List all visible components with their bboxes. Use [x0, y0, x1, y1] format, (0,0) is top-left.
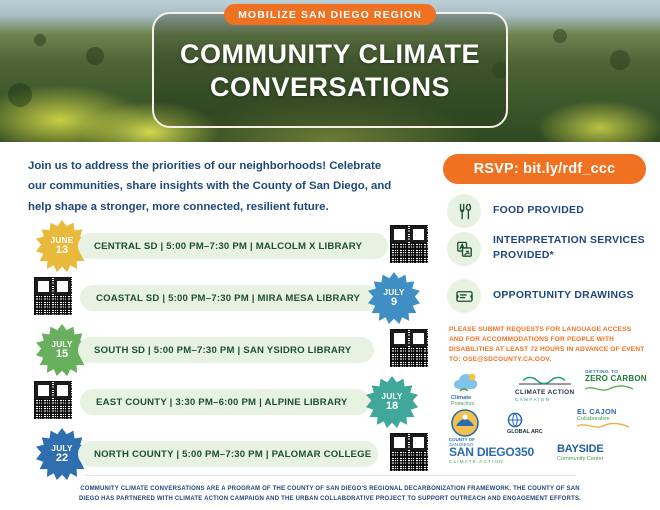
qr-code-icon[interactable]: [390, 225, 428, 263]
list-item[interactable]: JUNE 13 CENTRAL SD | 5:00 PM–7:30 PM | M…: [18, 224, 438, 276]
logo-climate-protection: Climate Protection: [451, 370, 509, 408]
hero-banner: MOBILIZE SAN DIEGO REGION COMMUNITY CLIM…: [0, 0, 660, 142]
logo-climate-action-title: CLIMATE ACTION: [515, 390, 575, 397]
event-details-pill: NORTH COUNTY | 5:00 PM–7:30 PM | PALOMAR…: [78, 441, 378, 467]
utensils-icon: [447, 194, 481, 228]
logo-san-diego-350: SAN DIEGO350 CLIMATE ACTION: [449, 446, 534, 464]
event-date-day: 15: [56, 349, 68, 361]
qr-code-icon[interactable]: [34, 381, 72, 419]
logo-global-arc: GLOBAL ARC: [507, 412, 543, 436]
event-date-day: 22: [56, 453, 68, 465]
rsvp-button[interactable]: RSVP: bit.ly/rdf_ccc: [443, 154, 646, 184]
logo-global-arc-title: GLOBAL ARC: [507, 430, 543, 436]
accessibility-note: PLEASE SUBMIT REQUESTS FOR LANGUAGE ACCE…: [449, 325, 645, 365]
hero-title-card: MOBILIZE SAN DIEGO REGION COMMUNITY CLIM…: [152, 12, 508, 128]
content-area: Join us to address the priorities of our…: [0, 142, 660, 510]
event-date-badge: JULY 18: [366, 376, 418, 428]
intro-paragraph: Join us to address the priorities of our…: [28, 156, 396, 217]
event-details-pill: EAST COUNTY | 3:30 PM–6:00 PM | ALPINE L…: [80, 389, 370, 415]
partner-logos: Climate Protection CLIMATE ACTION CAMPAI…: [449, 370, 647, 478]
feature-label: INTERPRETATION SERVICES PROVIDED*: [493, 234, 645, 264]
event-date-day: 9: [391, 297, 397, 309]
feature-label: FOOD PROVIDED: [493, 204, 584, 219]
logo-sd350-title: SAN DIEGO350: [449, 446, 534, 459]
interpretation-headset-icon: [447, 232, 481, 266]
logo-zero-carbon-subtitle: ZERO CARBON: [585, 375, 647, 384]
hero-eyebrow-badge: MOBILIZE SAN DIEGO REGION: [224, 4, 436, 25]
logo-climate-action-mark: [515, 372, 575, 390]
list-item[interactable]: JULY 15 SOUTH SD | 5:00 PM–7:30 PM | SAN…: [18, 328, 438, 380]
logo-bayside-subtitle: Community Center: [557, 456, 604, 462]
event-date-day: 18: [386, 401, 398, 413]
footer-note: COMMUNITY CLIMATE CONVERSATIONS ARE A PR…: [0, 485, 660, 504]
logo-county-of-san-diego: COUNTY OF SAN DIEGO: [449, 408, 501, 447]
feature-food-provided: FOOD PROVIDED: [447, 194, 584, 228]
feature-label: OPPORTUNITY DRAWINGS: [493, 289, 634, 304]
logo-bayside-community-center: BAYSIDE Community Center: [557, 444, 604, 462]
event-details-pill: COASTAL SD | 5:00 PM–7:30 PM | MIRA MESA…: [80, 285, 380, 311]
feature-opportunity-drawings: OPPORTUNITY DRAWINGS: [447, 279, 634, 313]
logo-climate-action-subtitle: CAMPAIGN: [515, 397, 575, 402]
logo-climate-protection-subtitle: Protection: [451, 402, 509, 408]
page-title: COMMUNITY CLIMATE CONVERSATIONS: [154, 38, 506, 104]
ticket-icon: [447, 279, 481, 313]
event-date-badge: JULY 9: [368, 272, 420, 324]
event-date-day: 13: [56, 245, 68, 257]
logo-zero-carbon-mark: [585, 384, 639, 392]
event-details-pill: CENTRAL SD | 5:00 PM–7:30 PM | MALCOLM X…: [78, 233, 388, 259]
page-title-line-1: COMMUNITY CLIMATE: [180, 39, 480, 69]
logo-climate-protection-mark: [451, 370, 509, 396]
list-item[interactable]: JULY 22 NORTH COUNTY | 5:00 PM–7:30 PM |…: [18, 432, 438, 484]
event-list: JUNE 13 CENTRAL SD | 5:00 PM–7:30 PM | M…: [18, 224, 438, 484]
logo-county-seal-mark: [449, 408, 501, 438]
qr-code-icon[interactable]: [390, 433, 428, 471]
footer-divider: [84, 475, 576, 476]
feature-interpretation-services: INTERPRETATION SERVICES PROVIDED*: [447, 232, 645, 266]
qr-code-icon[interactable]: [34, 277, 72, 315]
list-item[interactable]: EAST COUNTY | 3:30 PM–6:00 PM | ALPINE L…: [18, 380, 438, 432]
event-details-pill: SOUTH SD | 5:00 PM–7:30 PM | SAN YSIDRO …: [78, 337, 374, 363]
logo-el-cajon-mark: [577, 422, 629, 429]
page-title-line-2: CONVERSATIONS: [154, 71, 506, 104]
qr-code-icon[interactable]: [390, 329, 428, 367]
logo-sd350-subtitle: CLIMATE ACTION: [449, 459, 534, 464]
logo-global-arc-mark: [507, 412, 523, 428]
logo-getting-to-zero-carbon: GETTING TO ZERO CARBON: [585, 370, 647, 392]
logo-el-cajon-collaborative: EL CAJON Collaborative: [577, 408, 629, 429]
logo-climate-action-campaign: CLIMATE ACTION CAMPAIGN: [515, 372, 575, 402]
logo-bayside-title: BAYSIDE: [557, 444, 604, 456]
logo-el-cajon-title: EL CAJON: [577, 408, 629, 416]
list-item[interactable]: COASTAL SD | 5:00 PM–7:30 PM | MIRA MESA…: [18, 276, 438, 328]
